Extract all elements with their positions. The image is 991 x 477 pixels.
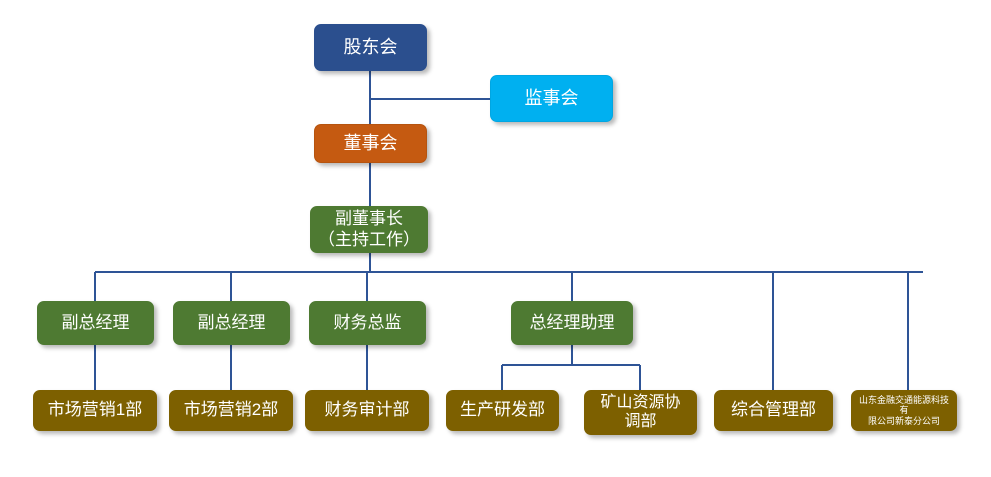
node-board-of-directors[interactable]: 董事会 [314,124,427,163]
node-shareholders[interactable]: 股东会 [314,24,427,71]
node-mining-coordination-dept-label: 矿山资源协 调部 [589,394,692,432]
node-deputy-gm-2[interactable]: 副总经理 [173,301,290,345]
node-marketing-dept-2-label: 市场营销2部 [174,400,288,420]
node-gm-assistant[interactable]: 总经理助理 [511,301,633,345]
node-mining-coordination-dept[interactable]: 矿山资源协 调部 [584,390,697,435]
node-deputy-gm-2-label: 副总经理 [178,313,285,333]
org-chart-canvas: 股东会 监事会 董事会 副董事长 （主持工作） 副总经理 副总经理 财务总监 总… [0,0,991,477]
node-general-admin-dept-label: 综合管理部 [719,400,828,420]
node-finance-audit-dept-label: 财务审计部 [310,400,424,420]
node-finance-audit-dept[interactable]: 财务审计部 [305,390,429,431]
node-supervisors-label: 监事会 [495,88,608,109]
node-deputy-gm-1-label: 副总经理 [42,313,149,333]
node-vice-chairman[interactable]: 副董事长 （主持工作） [310,206,428,253]
node-general-admin-dept[interactable]: 综合管理部 [714,390,833,431]
node-subsidiary-branch[interactable]: 山东金融交通能源科技有 限公司新泰分公司 [851,390,957,431]
node-gm-assistant-label: 总经理助理 [516,313,628,333]
node-production-rd-dept-label: 生产研发部 [451,400,554,420]
node-marketing-dept-1-label: 市场营销1部 [38,400,152,420]
node-subsidiary-branch-label: 山东金融交通能源科技有 限公司新泰分公司 [856,395,952,427]
node-shareholders-label: 股东会 [319,37,422,58]
node-marketing-dept-2[interactable]: 市场营销2部 [169,390,293,431]
node-supervisors[interactable]: 监事会 [490,75,613,122]
node-cfo-label: 财务总监 [314,313,421,333]
node-vice-chairman-label: 副董事长 （主持工作） [315,209,423,249]
node-marketing-dept-1[interactable]: 市场营销1部 [33,390,157,431]
node-board-of-directors-label: 董事会 [319,133,422,154]
node-cfo[interactable]: 财务总监 [309,301,426,345]
node-deputy-gm-1[interactable]: 副总经理 [37,301,154,345]
node-production-rd-dept[interactable]: 生产研发部 [446,390,559,431]
